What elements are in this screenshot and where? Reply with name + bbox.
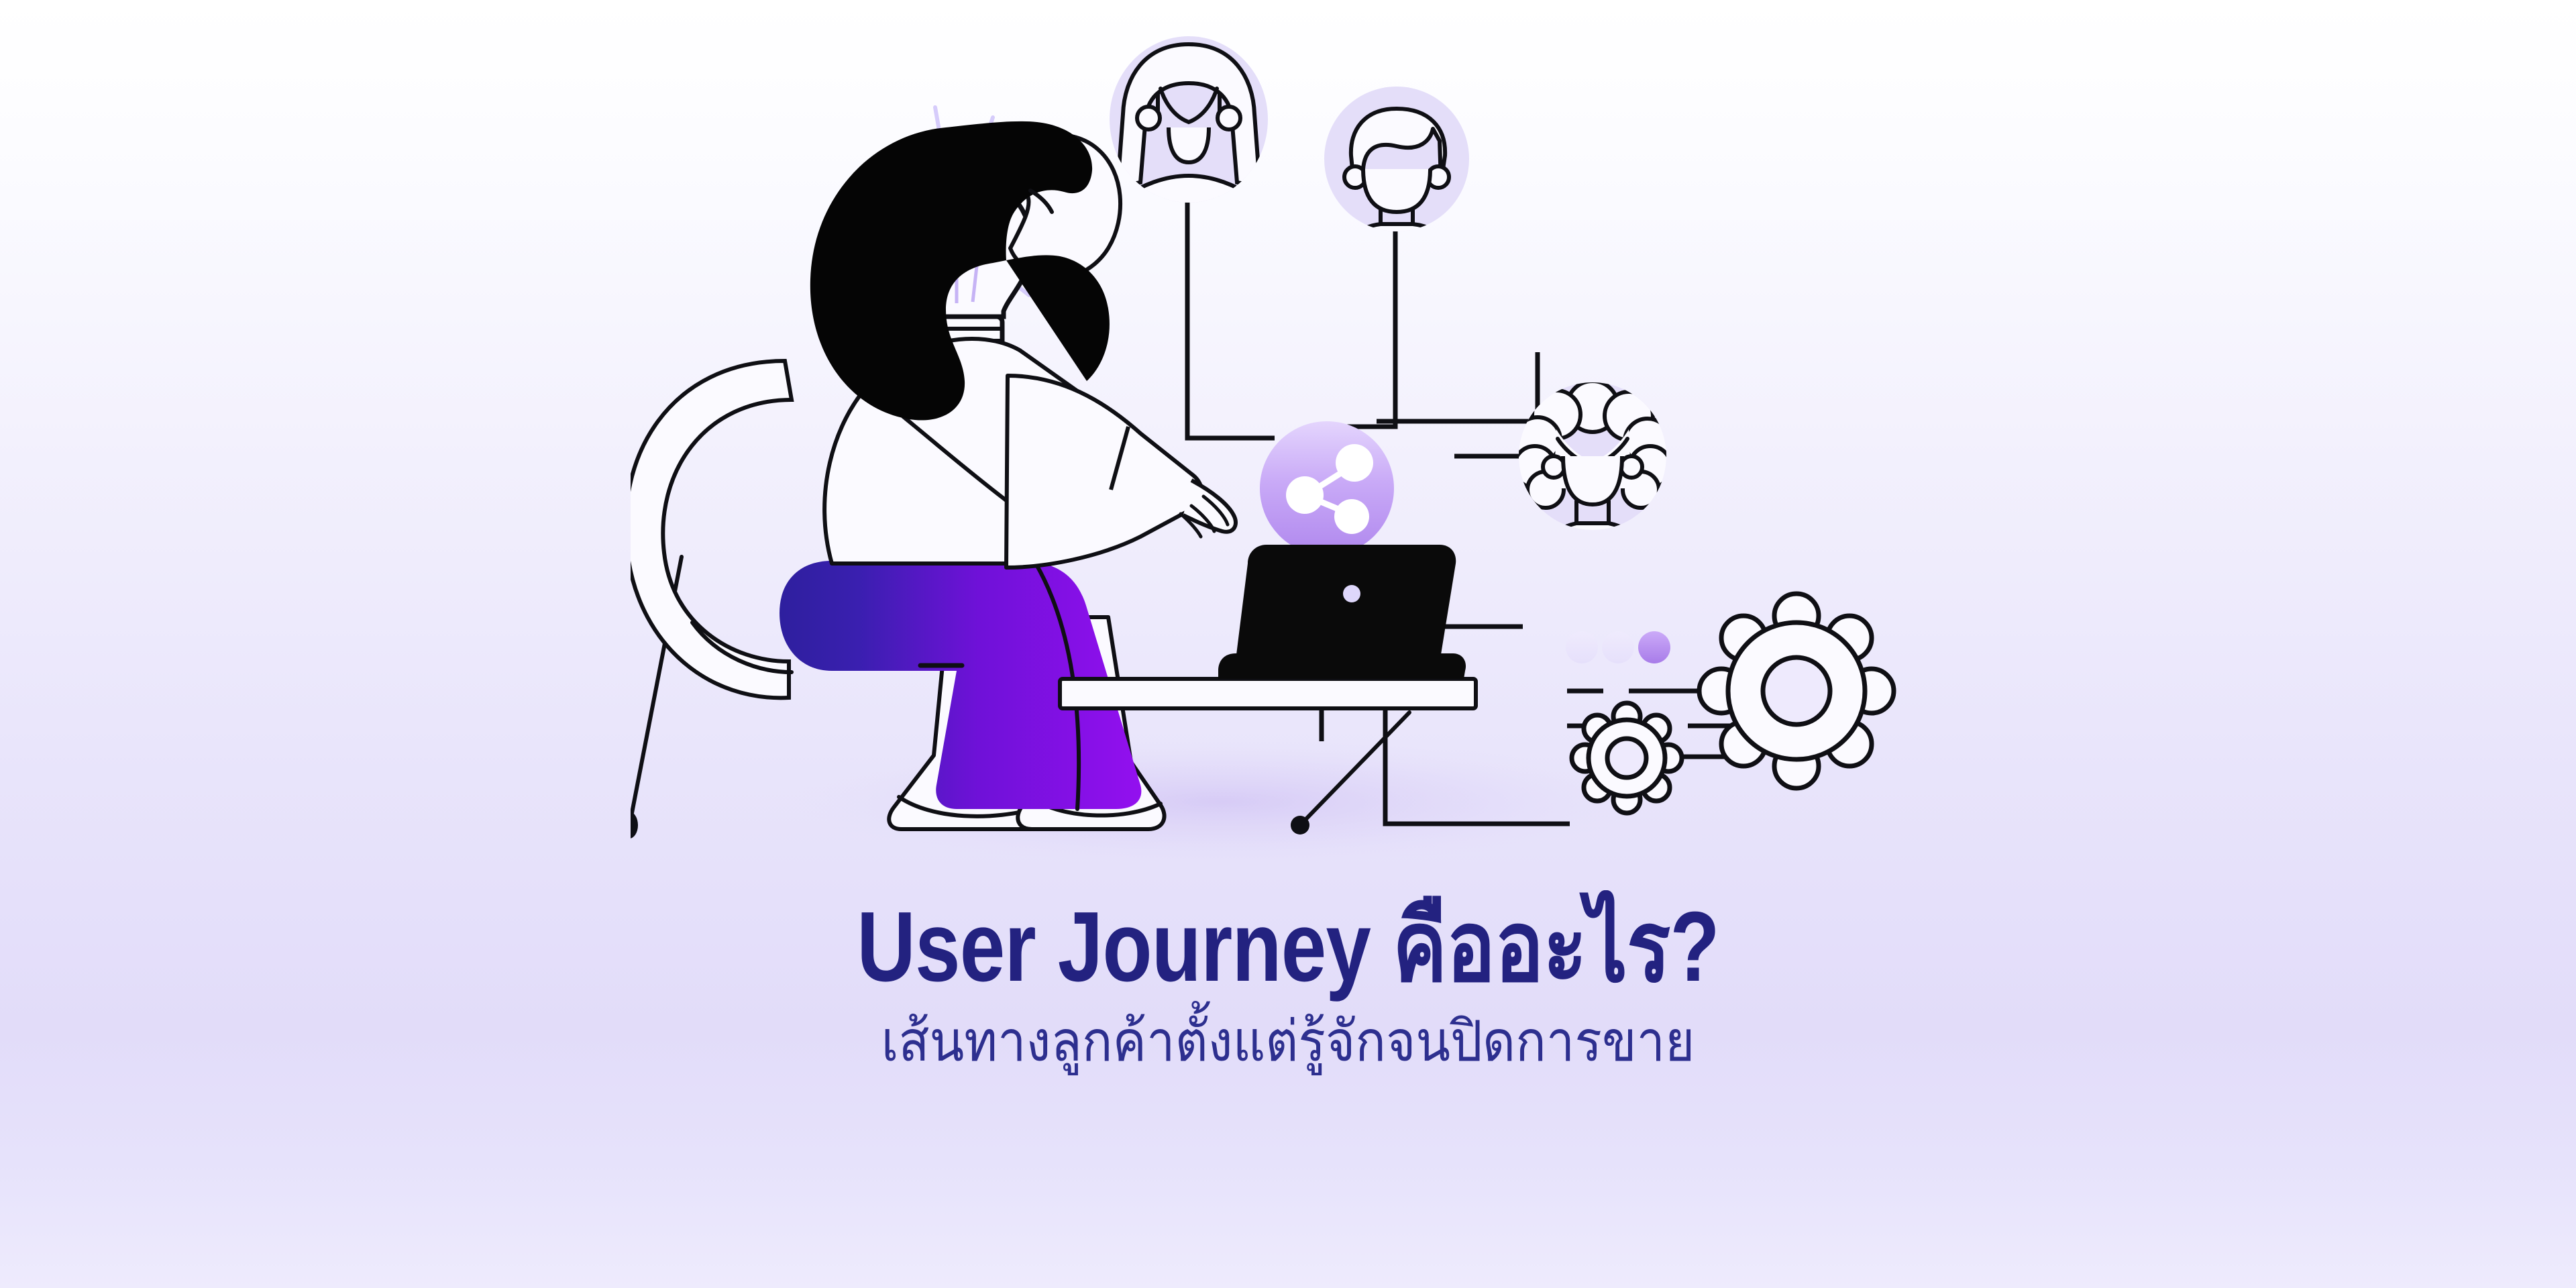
avatar-long-hair-woman — [1110, 36, 1268, 228]
page-subtitle: เส้นทางลูกค้าตั้งแต่รู้จักจนปิดการขาย — [129, 997, 2447, 1071]
doc-dot-3 — [1638, 631, 1670, 663]
doc-dot-2 — [1602, 631, 1634, 663]
share-hub-node — [1260, 421, 1394, 555]
chair — [631, 361, 792, 698]
banner-root: User Journey คืออะไร? เส้นทางลูกค้าตั้งแ… — [0, 0, 2576, 1288]
desk-surface — [1060, 679, 1476, 708]
hero-illustration — [631, 27, 1945, 865]
laptop — [1218, 545, 1466, 679]
avatar-curly-hair-person — [1514, 381, 1671, 584]
gear-small-icon — [1572, 703, 1682, 813]
person-arm — [1006, 376, 1236, 568]
gear-large-icon — [1699, 594, 1894, 788]
page-title: User Journey คืออะไร? — [232, 898, 2345, 997]
doc-dot-1 — [1566, 631, 1598, 663]
laptop-logo-dot — [1343, 585, 1360, 602]
text-block: User Journey คืออะไร? เส้นทางลูกค้าตั้งแ… — [0, 898, 2576, 1071]
